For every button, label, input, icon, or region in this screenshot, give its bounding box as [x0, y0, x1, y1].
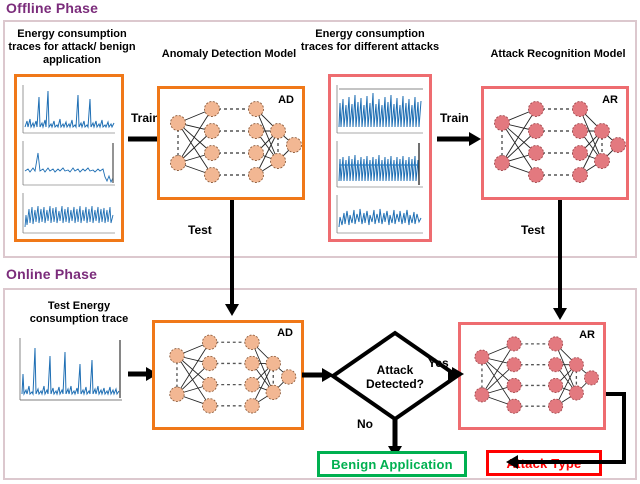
offline-ar-model-caption: Attack Recognition Model — [484, 48, 632, 61]
offline-ad-model-box: AD — [157, 86, 305, 200]
offline-ar-neural-network-icon — [484, 89, 626, 197]
decision-line-2: Detected? — [366, 377, 424, 391]
offline-train-arrow-right — [437, 131, 481, 151]
offline-benign-traces-caption: Energy consumption traces for attack/ be… — [8, 28, 136, 67]
offline-attack-traces-caption: Energy consumption traces for different … — [300, 28, 440, 54]
offline-ad-neural-network-icon — [160, 89, 302, 197]
attack-waveform-icon — [331, 77, 429, 239]
offline-train-label-right: Train — [440, 111, 469, 125]
offline-test-label-right: Test — [521, 223, 545, 237]
online-test-trace-caption: Test Energy consumption trace — [16, 300, 142, 326]
online-ad-neural-network-icon — [155, 323, 301, 427]
offline-ad-model-caption: Anomaly Detection Model — [155, 48, 303, 61]
ad-to-decision-arrow — [302, 367, 336, 385]
offline-attack-traces-box — [328, 74, 432, 242]
figure-canvas: Offline Phase Energy consumption traces … — [0, 0, 640, 484]
decision-yes-connector — [448, 366, 518, 386]
online-phase-title: Online Phase — [6, 266, 97, 282]
offline-ad-test-arrow — [224, 200, 242, 318]
decision-label: Attack Detected? — [355, 363, 435, 391]
yes-label: Yes — [428, 356, 449, 370]
offline-test-label-left: Test — [188, 223, 212, 237]
online-ad-model-box: AD — [152, 320, 304, 430]
online-test-trace-plot — [10, 334, 128, 410]
offline-ar-model-box: AR — [481, 86, 629, 200]
decision-line-1: Attack — [377, 363, 414, 377]
offline-train-label-left: Train — [131, 111, 160, 125]
offline-benign-traces-box — [14, 74, 124, 242]
benign-application-result: Benign Application — [317, 451, 467, 477]
offline-phase-title: Offline Phase — [6, 0, 98, 16]
ar-to-attack-type-arrow — [604, 394, 640, 464]
offline-ar-test-arrow — [552, 200, 570, 322]
benign-waveform-icon — [17, 77, 121, 239]
no-label: No — [357, 417, 373, 431]
test-waveform-icon — [10, 334, 128, 410]
